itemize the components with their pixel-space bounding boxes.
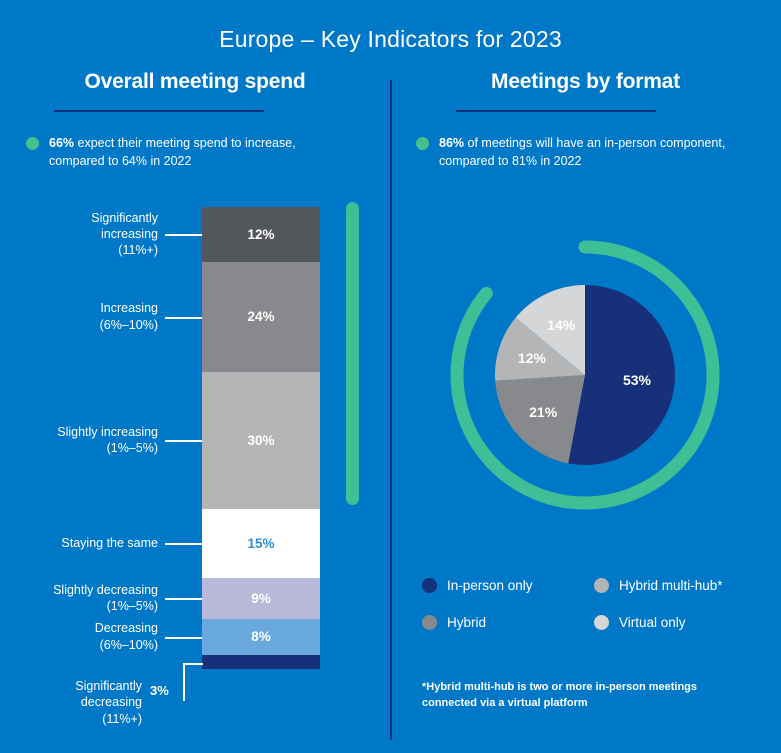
bar-segment: 24% (202, 262, 320, 372)
stacked-bar-chart: 12%24%30%15%9%8% Significantlyincreasing… (0, 0, 390, 753)
bar-segment-value: 8% (251, 629, 271, 644)
bar-category-label: Slightly decreasing(1%–5%) (8, 582, 158, 615)
infographic-root: Europe – Key Indicators for 2023 Overall… (0, 0, 781, 753)
bar-leader-line (165, 637, 202, 639)
legend-item[interactable]: Hybrid (422, 615, 594, 630)
bar-segment (202, 655, 320, 669)
green-increase-indicator (346, 202, 359, 505)
bar-segment-value: 30% (247, 433, 274, 448)
pie-slice-value: 21% (529, 404, 557, 420)
bar-category-label: Increasing(6%–10%) (8, 300, 158, 333)
bar-segment-value: 9% (251, 591, 271, 606)
bar-leader-line (165, 317, 202, 319)
legend-swatch-icon (594, 615, 609, 630)
right-kpi-rest: of meetings will have an in-person compo… (439, 136, 725, 168)
bar-category-label: Staying the same (8, 535, 158, 551)
bar-leader-line (165, 234, 202, 236)
bar-category-label-line: Decreasing (8, 620, 158, 636)
bar-segment: 9% (202, 578, 320, 619)
bar-category-label-line: (11%+) (8, 242, 158, 258)
bar-segment: 8% (202, 619, 320, 656)
bar-category-label-line: (1%–5%) (8, 440, 158, 456)
pie-slice-value: 53% (623, 372, 651, 388)
bar-leader-line (165, 543, 202, 545)
bar-category-label-line: (6%–10%) (8, 317, 158, 333)
legend-item-label: Virtual only (619, 615, 686, 630)
right-panel-rule (456, 110, 656, 112)
bar-category-label: Significantlydecreasing(11%+) (0, 678, 142, 727)
bar-segment-value: 15% (247, 536, 274, 551)
right-panel-heading: Meetings by format (398, 70, 773, 94)
pie-chart-svg (398, 195, 773, 555)
stacked-bar: 12%24%30%15%9%8% (202, 207, 320, 669)
legend-item[interactable]: Virtual only (594, 615, 766, 630)
legend-swatch-icon (422, 615, 437, 630)
legend-item-label: In-person only (447, 578, 533, 593)
pie-slice-value: 12% (518, 350, 546, 366)
panel-meetings-by-format: Meetings by format 86% of meetings will … (398, 70, 773, 170)
bar-segment: 15% (202, 509, 320, 578)
legend-item-label: Hybrid multi-hub* (619, 578, 723, 593)
bar-segment: 30% (202, 372, 320, 509)
bar-segment-value: 12% (247, 227, 274, 242)
callout-3pct-value: 3% (150, 683, 169, 698)
bar-category-label-line: decreasing (0, 694, 142, 710)
bar-category-label-line: increasing (8, 226, 158, 242)
bar-category-label: Slightly increasing(1%–5%) (8, 424, 158, 457)
legend-swatch-icon (594, 578, 609, 593)
pie-slice-value: 14% (547, 317, 575, 333)
right-kpi-text: 86% of meetings will have an in-person c… (439, 134, 739, 170)
bar-category-label-line: Slightly increasing (8, 424, 158, 440)
legend-item[interactable]: Hybrid multi-hub* (594, 578, 766, 593)
legend-item-label: Hybrid (447, 615, 486, 630)
right-kpi-bold: 86% (439, 136, 464, 150)
footnote: *Hybrid multi-hub is two or more in-pers… (422, 680, 752, 712)
callout-leader-line (183, 663, 203, 701)
bar-category-label-line: (11%+) (0, 711, 142, 727)
bar-category-label: Decreasing(6%–10%) (8, 620, 158, 653)
bar-category-label-line: (1%–5%) (8, 598, 158, 614)
bar-leader-line (165, 440, 202, 442)
legend-swatch-icon (422, 578, 437, 593)
bar-category-label-line: (6%–10%) (8, 637, 158, 653)
pie-legend: In-person onlyHybrid multi-hub*HybridVir… (422, 578, 762, 630)
legend-item[interactable]: In-person only (422, 578, 594, 593)
pie-chart: 53%21%12%14% (398, 195, 773, 555)
bar-category-label-line: Increasing (8, 300, 158, 316)
bar-leader-line (165, 598, 202, 600)
bar-segment: 12% (202, 207, 320, 262)
green-dot-icon (416, 137, 429, 150)
bar-category-label-line: Significantly (0, 678, 142, 694)
bar-category-label-line: Staying the same (8, 535, 158, 551)
bar-segment-value: 24% (247, 309, 274, 324)
bar-category-label-line: Slightly decreasing (8, 582, 158, 598)
bar-category-label-line: Significantly (8, 210, 158, 226)
panel-divider (390, 80, 392, 740)
bar-category-label: Significantlyincreasing(11%+) (8, 210, 158, 259)
right-kpi: 86% of meetings will have an in-person c… (398, 134, 773, 170)
